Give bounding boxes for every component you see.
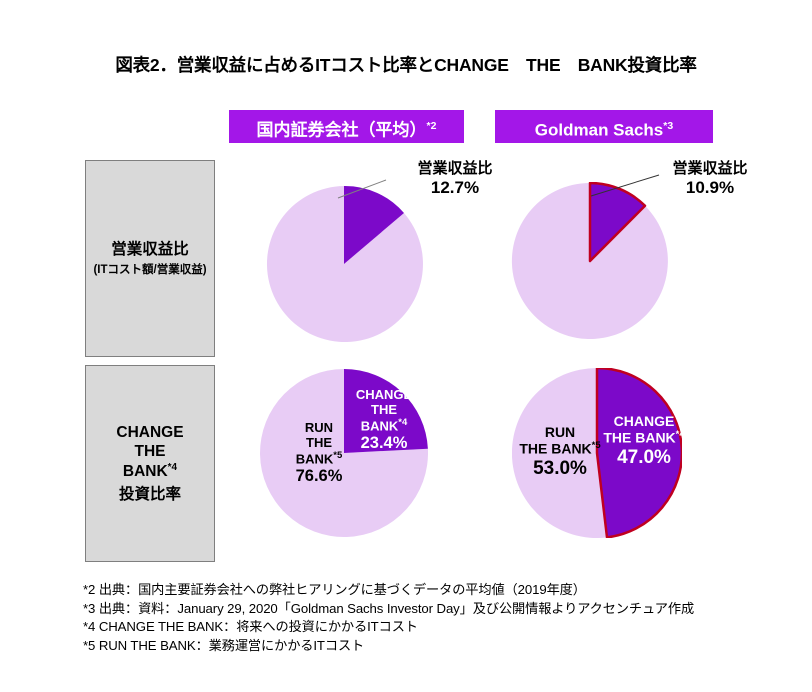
column-header-goldman-sachs-label: Goldman Sachs <box>535 121 663 140</box>
callout-revenue-domestic: 営業収益比 12.7% <box>395 160 515 198</box>
row-label-revenue-ratio-sub: (ITコスト額/営業収益) <box>93 261 206 277</box>
footnote-2: *2 出典：国内主要証券会社への弊社ヒアリングに基づくデータの平均値（2019年… <box>83 581 783 600</box>
slice-label-footnote-ref: *4 <box>398 417 407 428</box>
callout-revenue-domestic-value: 12.7% <box>395 178 515 198</box>
leader-line <box>338 180 386 198</box>
leader-line <box>591 175 659 196</box>
slice-label-footnote-ref: *5 <box>592 440 601 451</box>
row-label-change-the-bank-footnote-ref: *4 <box>168 462 177 473</box>
footnote-5: *5 RUN THE BANK：業務運営にかかるITコスト <box>83 637 783 656</box>
row-label-change-the-bank-sub: 投資比率 <box>119 482 181 504</box>
column-header-domestic: 国内証券会社（平均）*2 <box>229 110 464 143</box>
callout-revenue-goldman-sachs-title: 営業収益比 <box>650 160 770 178</box>
row-label-change-the-bank: CHANGE THE BANK*4 投資比率 <box>85 365 215 562</box>
slice-label-footnote-ref: *5 <box>333 450 342 461</box>
pie-chart-revenue-domestic <box>265 185 423 343</box>
footnote-3: *3 出典：資料：January 29, 2020「Goldman Sachs … <box>83 600 783 619</box>
slice-label-run-the-bank-name: RUN THE BANK*5 <box>508 425 612 458</box>
slice-label-ctb-domestic-run-the-bank: RUN THE BANK*5 76.6% <box>274 421 364 486</box>
slice-label-ctb-gs-run-the-bank: RUN THE BANK*5 53.0% <box>508 425 612 479</box>
pie-chart-revenue-goldman-sachs <box>511 182 669 340</box>
pie-revenue-gs-svg <box>511 182 669 340</box>
row-label-change-the-bank-main: CHANGE THE BANK*4 <box>116 423 183 481</box>
pie-revenue-domestic-svg <box>265 185 423 343</box>
callout-revenue-goldman-sachs-value: 10.9% <box>650 178 770 198</box>
callout-revenue-goldman-sachs: 営業収益比 10.9% <box>650 160 770 198</box>
column-header-domestic-label: 国内証券会社（平均） <box>257 121 427 140</box>
slice-label-run-the-bank-name: RUN THE BANK*5 <box>274 421 364 467</box>
callout-revenue-domestic-title: 営業収益比 <box>395 160 515 178</box>
page-title: 図表2．営業収益に占めるITコスト比率とCHANGE THE BANK投資比率 <box>0 52 812 77</box>
slice-label-run-the-bank-value: 76.6% <box>274 467 364 486</box>
column-header-goldman-sachs-footnote-ref: *3 <box>663 120 673 132</box>
slice-label-run-the-bank-value: 53.0% <box>508 458 612 480</box>
footnotes: *2 出典：国内主要証券会社への弊社ヒアリングに基づくデータの平均値（2019年… <box>83 581 783 655</box>
row-label-revenue-ratio-main: 営業収益比 <box>111 240 189 259</box>
column-header-domestic-footnote-ref: *2 <box>427 120 437 132</box>
row-label-revenue-ratio: 営業収益比 (ITコスト額/営業収益) <box>85 160 215 357</box>
slice-label-footnote-ref: *4 <box>676 429 685 440</box>
footnote-4: *4 CHANGE THE BANK：将来への投資にかかるITコスト <box>83 618 783 637</box>
column-header-goldman-sachs: Goldman Sachs*3 <box>495 110 713 143</box>
